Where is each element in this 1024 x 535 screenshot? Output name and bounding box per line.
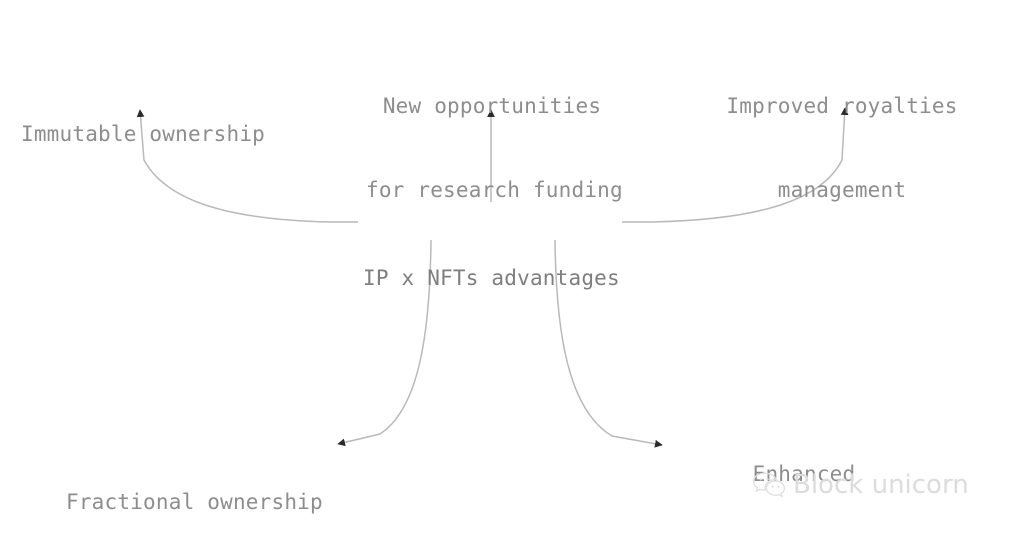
node-label-line: Improved royalties [708,92,976,120]
node-label-line: Immutable ownership [21,120,265,148]
diagram-canvas: Immutable ownership New opportunities fo… [0,0,1024,535]
watermark: Block unicorn [752,470,969,500]
node-immutable-ownership: Immutable ownership [21,64,265,204]
node-label-line: management [708,176,976,204]
wechat-icon [752,471,786,499]
node-label-line: for research funding [366,176,618,204]
node-label-line: New opportunities [366,92,618,120]
node-label-line: Fractional ownership [66,488,323,516]
node-improved-royalties: Improved royalties management [708,36,976,260]
node-fractional-ownership: Fractional ownership [66,432,323,535]
node-center-ip-x-nfts-advantages: IP x NFTs advantages [363,208,617,348]
node-center-label: IP x NFTs advantages [363,264,617,292]
watermark-text: Block unicorn [793,470,969,500]
